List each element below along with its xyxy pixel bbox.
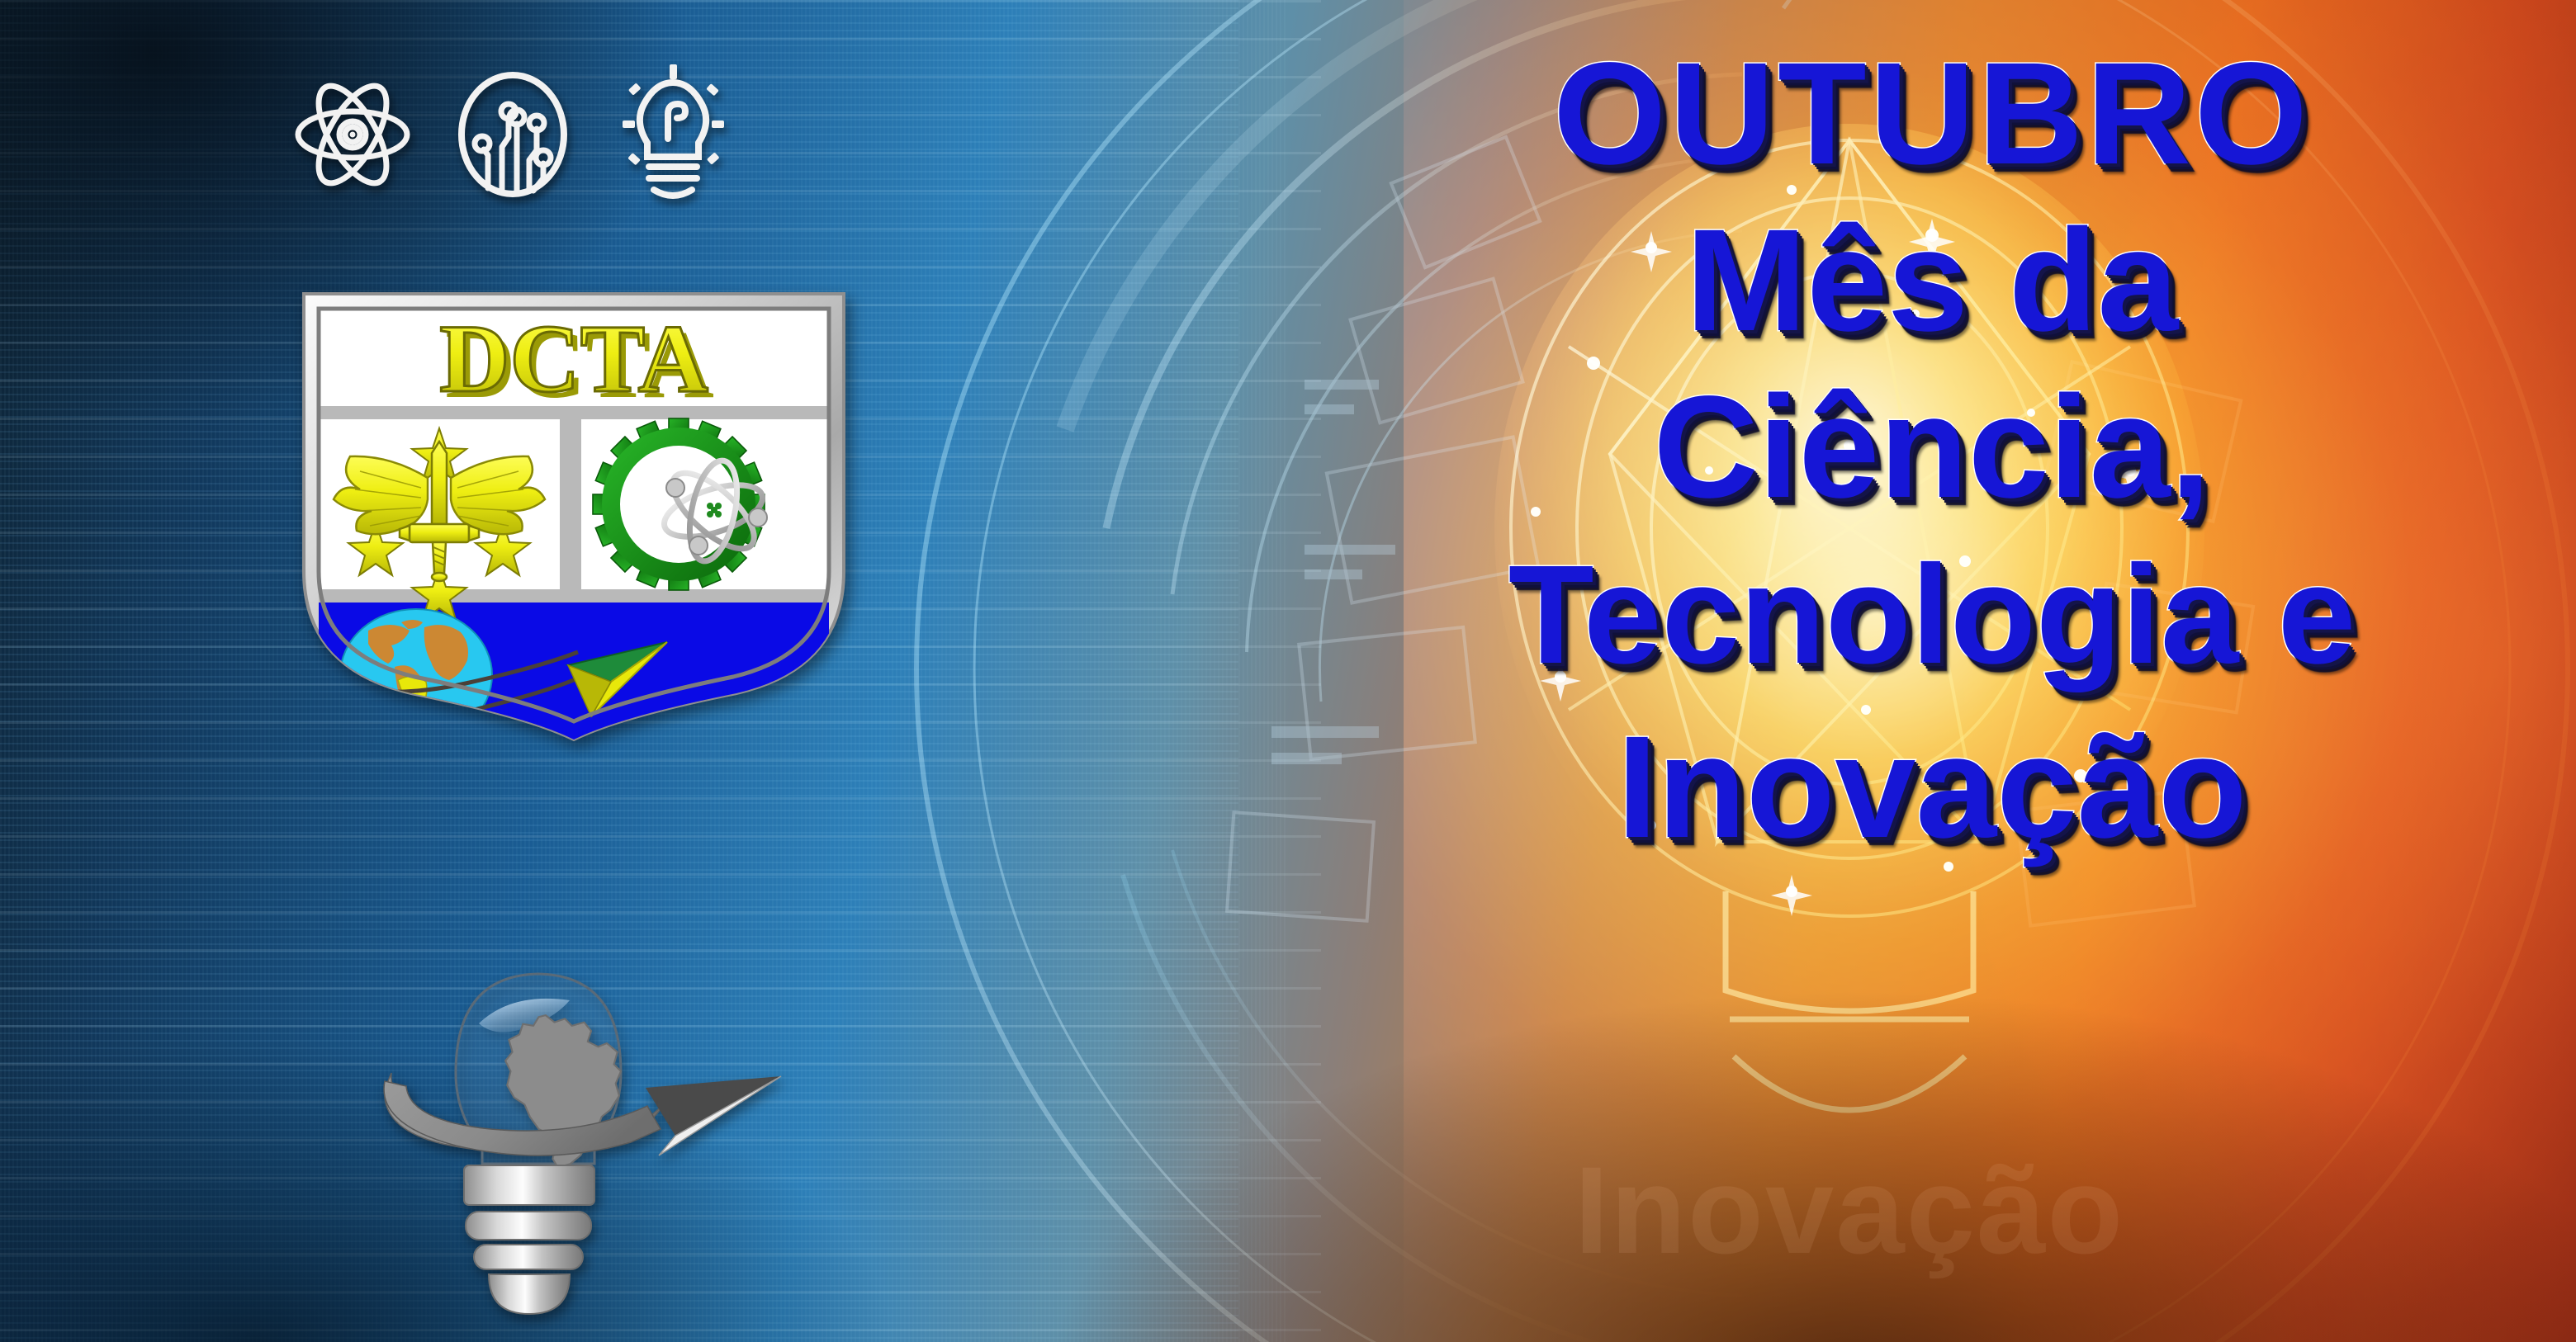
ghost-watermark-text: Inovação	[1395, 1139, 2304, 1282]
poster-canvas: Inovação	[0, 0, 2576, 1342]
lightbulb-icon	[611, 64, 735, 205]
svg-text:DCTA: DCTA	[439, 305, 708, 413]
headline-line-tecnologia: Tecnologia e	[1338, 545, 2526, 685]
headline-line-mes-da: Mês da	[1338, 208, 2526, 353]
science-icon-row	[291, 64, 735, 205]
headline-line-ciencia: Ciência,	[1338, 375, 2526, 520]
circuit-board-icon	[451, 64, 575, 205]
atom-icon	[291, 64, 414, 205]
headline-line-inovacao: Inovação	[1338, 715, 2526, 860]
dcta-coat-of-arms: DCTA DCTA	[291, 281, 857, 743]
headline-line-outubro: OUTUBRO	[1338, 23, 2526, 187]
poster-headline: OUTUBRO Mês da Ciência, Tecnologia e Ino…	[1338, 23, 2526, 867]
lightbulb-brazil-icon	[373, 941, 836, 1342]
